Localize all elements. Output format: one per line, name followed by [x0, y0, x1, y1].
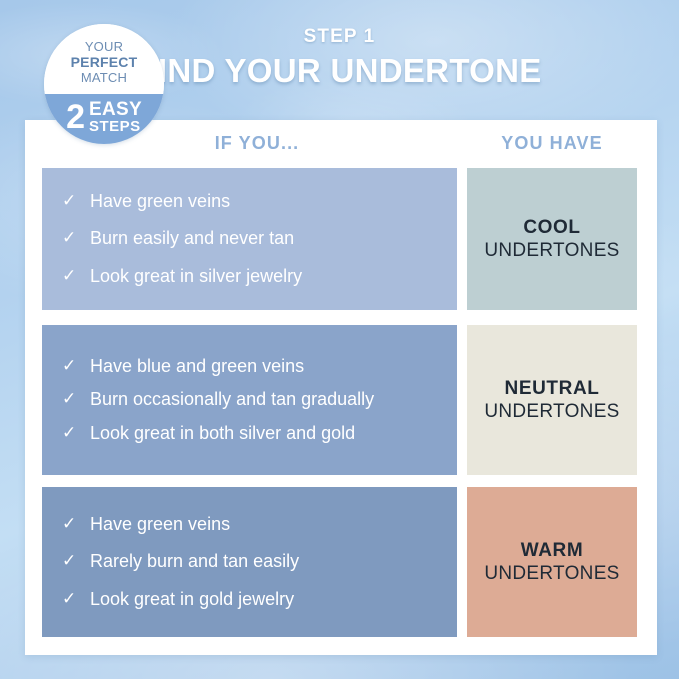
result-subtitle: UNDERTONES — [484, 563, 619, 585]
undertone-row: ✓ Have green veins ✓ Rarely burn and tan… — [42, 487, 637, 637]
criterion-item: ✓ Look great in gold jewelry — [62, 588, 441, 611]
criterion-text: Have blue and green veins — [90, 355, 441, 378]
criteria-box: ✓ Have green veins ✓ Burn easily and nev… — [42, 168, 457, 310]
result-box-warm: WARM UNDERTONES — [467, 487, 637, 637]
column-header-you-have: YOU HAVE — [467, 133, 637, 154]
criteria-box: ✓ Have green veins ✓ Rarely burn and tan… — [42, 487, 457, 637]
check-icon: ✓ — [62, 588, 90, 610]
badge-line-your: YOUR — [85, 40, 123, 55]
criterion-item: ✓ Burn occasionally and tan gradually — [62, 388, 441, 411]
criterion-item: ✓ Have green veins — [62, 513, 441, 536]
check-icon: ✓ — [62, 422, 90, 444]
criterion-text: Look great in gold jewelry — [90, 588, 441, 611]
badge-label-steps: STEPS — [89, 119, 141, 134]
criterion-text: Look great in silver jewelry — [90, 265, 441, 288]
badge-bottom-half: 2 EASY STEPS — [44, 94, 164, 144]
criterion-text: Have green veins — [90, 513, 441, 536]
check-icon: ✓ — [62, 227, 90, 249]
undertone-card: IF YOU... YOU HAVE ✓ Have green veins ✓ … — [25, 120, 657, 655]
check-icon: ✓ — [62, 355, 90, 377]
result-name: NEUTRAL — [505, 378, 600, 400]
badge-steps-wrap: EASY STEPS — [89, 100, 142, 134]
check-icon: ✓ — [62, 388, 90, 410]
badge-line-perfect: PERFECT — [71, 55, 138, 71]
badge-label-easy: EASY — [89, 100, 142, 119]
criterion-text: Look great in both silver and gold — [90, 422, 441, 445]
badge-line-match: MATCH — [81, 71, 127, 86]
result-box-neutral: NEUTRAL UNDERTONES — [467, 325, 637, 475]
check-icon: ✓ — [62, 550, 90, 572]
criterion-item: ✓ Burn easily and never tan — [62, 227, 441, 250]
badge-top-half: YOUR PERFECT MATCH — [44, 24, 164, 94]
criterion-text: Burn easily and never tan — [90, 227, 441, 250]
criterion-text: Have green veins — [90, 190, 441, 213]
result-subtitle: UNDERTONES — [484, 240, 619, 262]
badge-step-count: 2 — [66, 102, 85, 133]
column-header-if-you: IF YOU... — [167, 133, 347, 154]
undertone-row: ✓ Have green veins ✓ Burn easily and nev… — [42, 168, 637, 310]
criterion-text: Rarely burn and tan easily — [90, 550, 441, 573]
check-icon: ✓ — [62, 265, 90, 287]
result-box-cool: COOL UNDERTONES — [467, 168, 637, 310]
result-name: COOL — [523, 217, 580, 239]
undertone-row: ✓ Have blue and green veins ✓ Burn occas… — [42, 325, 637, 475]
criterion-item: ✓ Look great in both silver and gold — [62, 422, 441, 445]
check-icon: ✓ — [62, 190, 90, 212]
criteria-box: ✓ Have blue and green veins ✓ Burn occas… — [42, 325, 457, 475]
result-name: WARM — [521, 540, 584, 562]
check-icon: ✓ — [62, 513, 90, 535]
criterion-item: ✓ Look great in silver jewelry — [62, 265, 441, 288]
perfect-match-badge: YOUR PERFECT MATCH 2 EASY STEPS — [44, 24, 164, 144]
criterion-item: ✓ Have green veins — [62, 190, 441, 213]
result-subtitle: UNDERTONES — [484, 401, 619, 423]
criterion-item: ✓ Have blue and green veins — [62, 355, 441, 378]
criterion-item: ✓ Rarely burn and tan easily — [62, 550, 441, 573]
criterion-text: Burn occasionally and tan gradually — [90, 388, 441, 411]
